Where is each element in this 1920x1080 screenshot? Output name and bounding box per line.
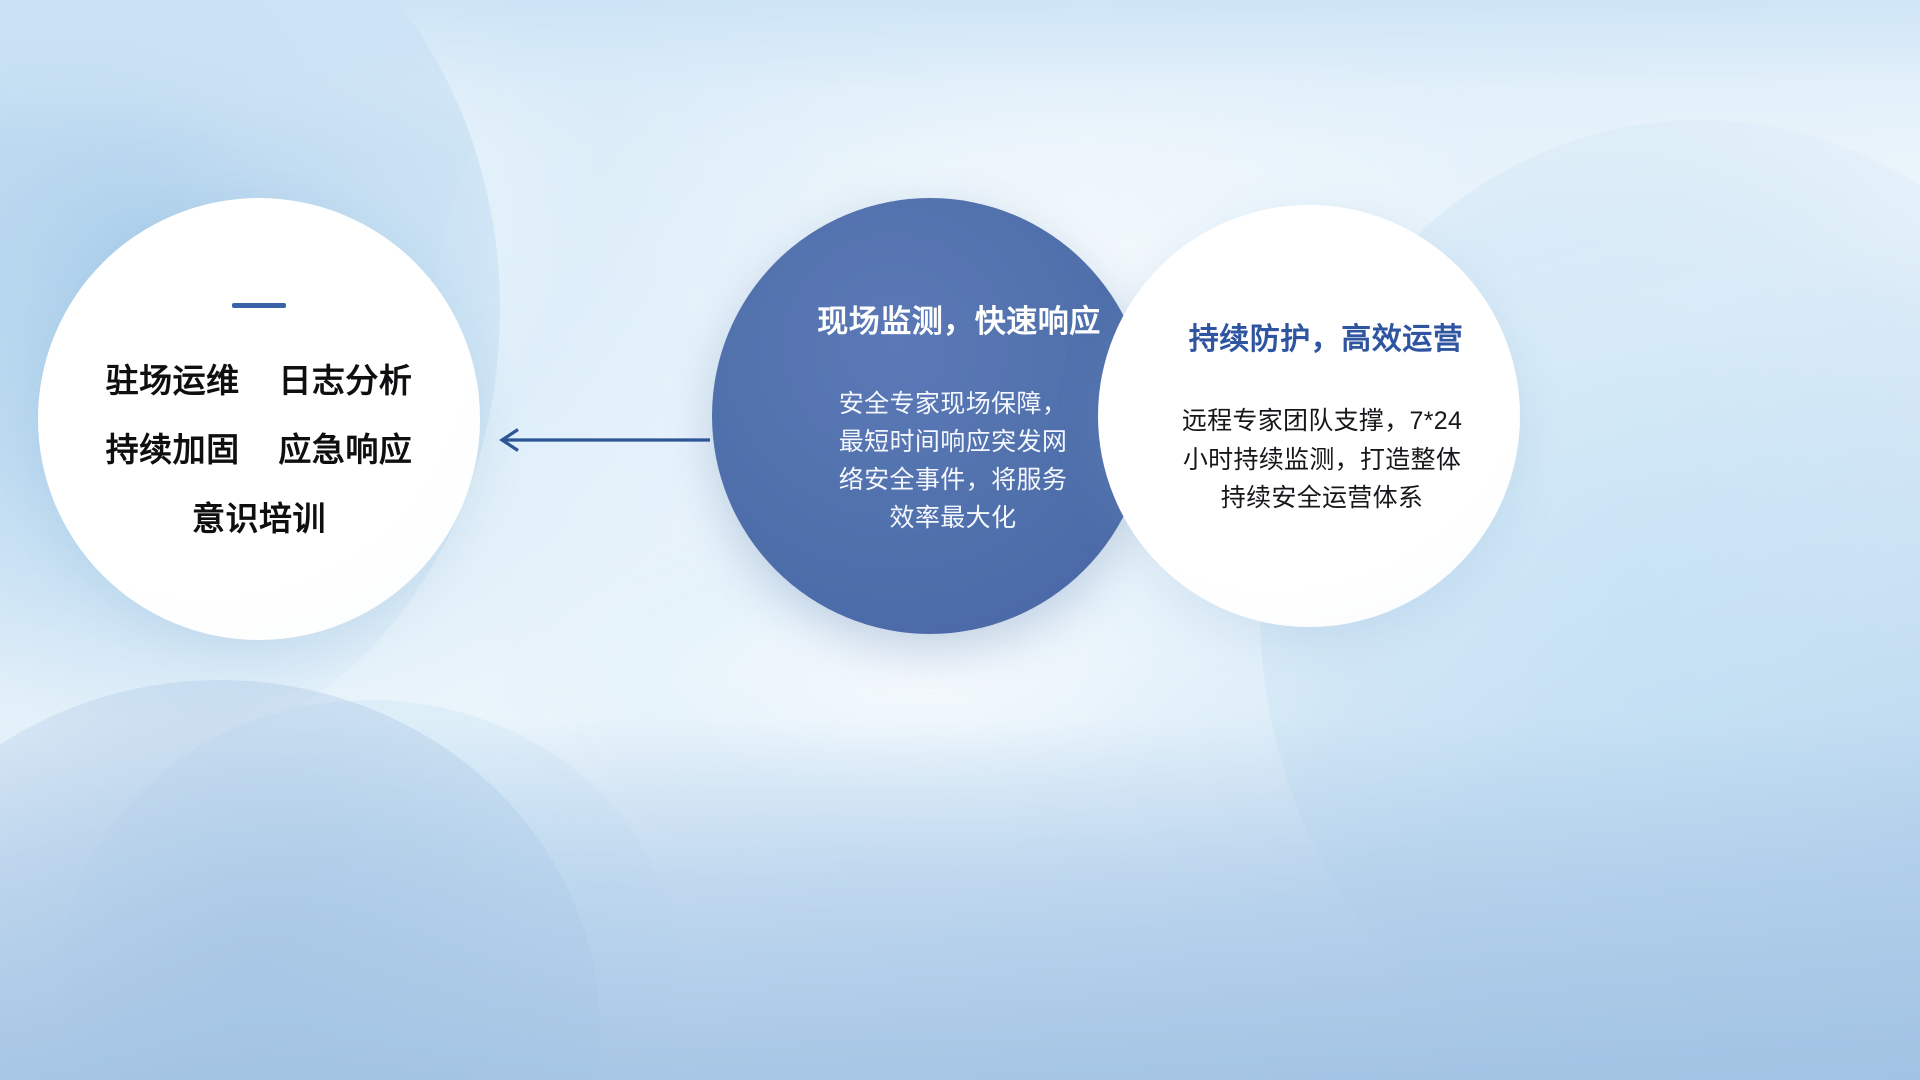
left-circle-line-2: 持续加固 应急响应 <box>106 433 413 466</box>
right-body-line-1: 远程专家团队支撑，7*24 <box>1182 402 1462 441</box>
middle-circle-title: 现场监测，快速响应 <box>817 296 1101 341</box>
diagram-canvas: 驻场运维 日志分析 持续加固 应急响应 意识培训 现场监测，快速响应 安全专家现… <box>0 0 1920 1080</box>
left-circle-line-1: 驻场运维 日志分析 <box>106 364 413 397</box>
middle-body-line-3: 络安全事件，将服务 <box>839 461 1068 499</box>
flow-arrow-left-icon <box>488 424 710 456</box>
middle-onsite-circle[interactable]: 现场监测，快速响应 安全专家现场保障， 最短时间响应突发网 络安全事件，将服务 … <box>712 198 1148 634</box>
middle-body-line-1: 安全专家现场保障， <box>839 385 1068 423</box>
right-operations-circle[interactable]: 持续防护，高效运营 远程专家团队支撑，7*24 小时持续监测，打造整体 持续安全… <box>1098 205 1520 627</box>
left-circle-line-3: 意识培训 <box>192 502 326 535</box>
left-capability-circle[interactable]: 驻场运维 日志分析 持续加固 应急响应 意识培训 <box>38 198 480 640</box>
right-circle-title: 持续防护，高效运营 <box>1189 314 1464 358</box>
middle-body-line-2: 最短时间响应突发网 <box>839 423 1068 461</box>
right-body-line-3: 持续安全运营体系 <box>1182 479 1462 518</box>
right-circle-body: 远程专家团队支撑，7*24 小时持续监测，打造整体 持续安全运营体系 <box>1182 402 1462 518</box>
middle-circle-body: 安全专家现场保障， 最短时间响应突发网 络安全事件，将服务 效率最大化 <box>839 385 1068 537</box>
right-body-line-2: 小时持续监测，打造整体 <box>1182 441 1462 480</box>
divider-dash-icon <box>232 303 286 308</box>
middle-body-line-4: 效率最大化 <box>839 499 1068 537</box>
